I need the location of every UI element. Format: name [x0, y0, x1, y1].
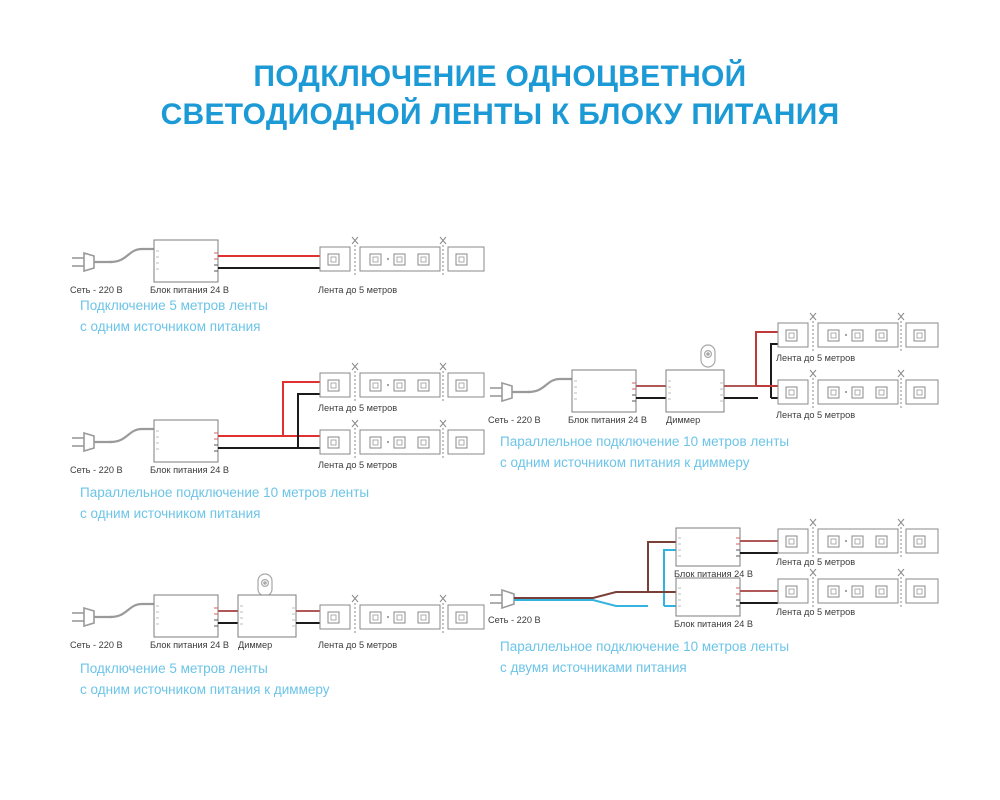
diagram-3-dimmer-single: Сеть - 220 В Блок питания 24 В Диммер Ле…: [70, 572, 500, 647]
diagram-4-caption: Параллельное подключение 10 метров ленты…: [500, 432, 789, 474]
caption-line-1: Параллельное подключение 10 метров ленты: [500, 639, 789, 654]
title-line-1: ПОДКЛЮЧЕНИЕ ОДНОЦВЕТНОЙ: [253, 60, 746, 93]
cut-mark-icon: [898, 519, 904, 557]
diagram-2-parallel-one-psu: Лента до 5 метров Сеть - 220 В Блок пита…: [70, 365, 500, 475]
cut-mark-icon: [810, 313, 816, 351]
label-power-supply: Блок питания 24 В: [674, 569, 753, 579]
cut-mark-icon: [898, 313, 904, 351]
cut-mark-icon: [352, 420, 358, 458]
caption-line-1: Параллельное подключение 10 метров ленты: [500, 434, 789, 449]
label-led-strip: Лента до 5 метров: [776, 410, 855, 420]
dimmer-box: [666, 370, 724, 412]
caption-line-1: Параллельное подключение 10 метров ленты: [80, 485, 369, 500]
power-plug-icon: [72, 433, 112, 451]
label-led-strip: Лента до 5 метров: [318, 285, 397, 295]
label-led-strip: Лента до 5 метров: [318, 460, 397, 470]
wire-positive-branch: [283, 382, 320, 436]
label-led-strip: Лента до 5 метров: [776, 557, 855, 567]
label-mains: Сеть - 220 В: [488, 615, 541, 625]
label-power-supply: Блок питания 24 В: [568, 415, 647, 425]
mains-cable: [528, 379, 572, 392]
diagram-2-svg: [70, 365, 500, 475]
label-mains: Сеть - 220 В: [70, 465, 123, 475]
label-power-supply: Блок питания 24 В: [150, 640, 229, 650]
label-led-strip: Лента до 5 метров: [776, 607, 855, 617]
cut-mark-icon: [898, 569, 904, 607]
caption-line-2: с одним источником питания: [80, 317, 268, 338]
mains-cable: [110, 249, 154, 262]
diagram-1-single-strip: Сеть - 220 В Блок питания 24 В Лента до …: [70, 235, 500, 295]
mains-cable: [110, 604, 154, 617]
led-strip: [778, 569, 938, 607]
power-supply-box: [154, 420, 218, 462]
cut-mark-icon: [352, 237, 358, 275]
led-strip: [778, 519, 938, 557]
label-led-strip: Лента до 5 метров: [318, 403, 397, 413]
power-supply-box: [676, 578, 740, 616]
led-strip: [320, 237, 484, 275]
power-supply-box: [154, 595, 218, 637]
cut-mark-icon: [440, 595, 446, 633]
diagram-5-caption: Параллельное подключение 10 метров ленты…: [500, 637, 789, 679]
label-mains: Сеть - 220 В: [488, 415, 541, 425]
led-strip: [778, 313, 938, 351]
caption-line-1: Подключение 5 метров ленты: [80, 298, 268, 313]
label-dimmer: Диммер: [666, 415, 700, 425]
label-mains: Сеть - 220 В: [70, 285, 123, 295]
caption-line-2: с одним источником питания: [80, 504, 369, 525]
label-power-supply: Блок питания 24 В: [150, 465, 229, 475]
power-plug-icon: [490, 590, 514, 608]
diagram-4-dimmer-parallel: Лента до 5 метров Сеть - 220 В Блок пита…: [488, 315, 938, 425]
cut-mark-icon: [810, 370, 816, 408]
cut-mark-icon: [352, 595, 358, 633]
wire-live-brown: [514, 592, 648, 598]
diagram-1-svg: [70, 235, 500, 295]
cut-mark-icon: [810, 519, 816, 557]
label-power-supply: Блок питания 24 В: [150, 285, 229, 295]
label-dimmer: Диммер: [238, 640, 272, 650]
cut-mark-icon: [440, 420, 446, 458]
diagram-1-caption: Подключение 5 метров ленты с одним источ…: [80, 296, 268, 338]
label-power-supply: Блок питания 24 В: [674, 619, 753, 629]
power-plug-icon: [490, 383, 530, 401]
label-led-strip: Лента до 5 метров: [318, 640, 397, 650]
led-strip: [778, 370, 938, 408]
diagram-3-caption: Подключение 5 метров ленты с одним источ…: [80, 659, 329, 701]
power-supply-box: [676, 528, 740, 566]
infographic-page: ПОДКЛЮЧЕНИЕ ОДНОЦВЕТНОЙ СВЕТОДИОДНОЙ ЛЕН…: [0, 0, 1000, 800]
led-strip: [320, 363, 484, 401]
power-plug-icon: [72, 253, 112, 271]
diagram-3-svg: [70, 572, 500, 647]
label-led-strip: Лента до 5 метров: [776, 353, 855, 363]
diagram-2-caption: Параллельное подключение 10 метров ленты…: [80, 483, 369, 525]
diagram-5-two-power-supplies: Блок питания 24 В Лента до 5 метров Сеть…: [488, 520, 938, 635]
cut-mark-icon: [352, 363, 358, 401]
diagram-4-svg: [488, 315, 938, 425]
mains-cable: [110, 429, 154, 442]
dimmer-box: [238, 595, 296, 637]
caption-line-2: с одним источником питания к диммеру: [80, 680, 329, 701]
caption-line-1: Подключение 5 метров ленты: [80, 661, 268, 676]
cut-mark-icon: [898, 370, 904, 408]
cut-mark-icon: [440, 363, 446, 401]
wire-positive-branch: [756, 332, 778, 386]
led-strip: [320, 595, 484, 633]
wire-negative-branch: [298, 394, 320, 448]
cut-mark-icon: [810, 569, 816, 607]
page-title: ПОДКЛЮЧЕНИЕ ОДНОЦВЕТНОЙ СВЕТОДИОДНОЙ ЛЕН…: [0, 58, 1000, 135]
caption-line-2: с двумя источниками питания: [500, 658, 789, 679]
led-strip: [320, 420, 484, 458]
cut-mark-icon: [440, 237, 446, 275]
power-supply-box: [154, 240, 218, 282]
wire-neutral-blue: [514, 600, 648, 606]
caption-line-2: с одним источником питания к диммеру: [500, 453, 789, 474]
power-plug-icon: [72, 608, 112, 626]
power-supply-box: [572, 370, 636, 412]
label-mains: Сеть - 220 В: [70, 640, 123, 650]
title-line-2: СВЕТОДИОДНОЙ ЛЕНТЫ К БЛОКУ ПИТАНИЯ: [0, 96, 1000, 134]
